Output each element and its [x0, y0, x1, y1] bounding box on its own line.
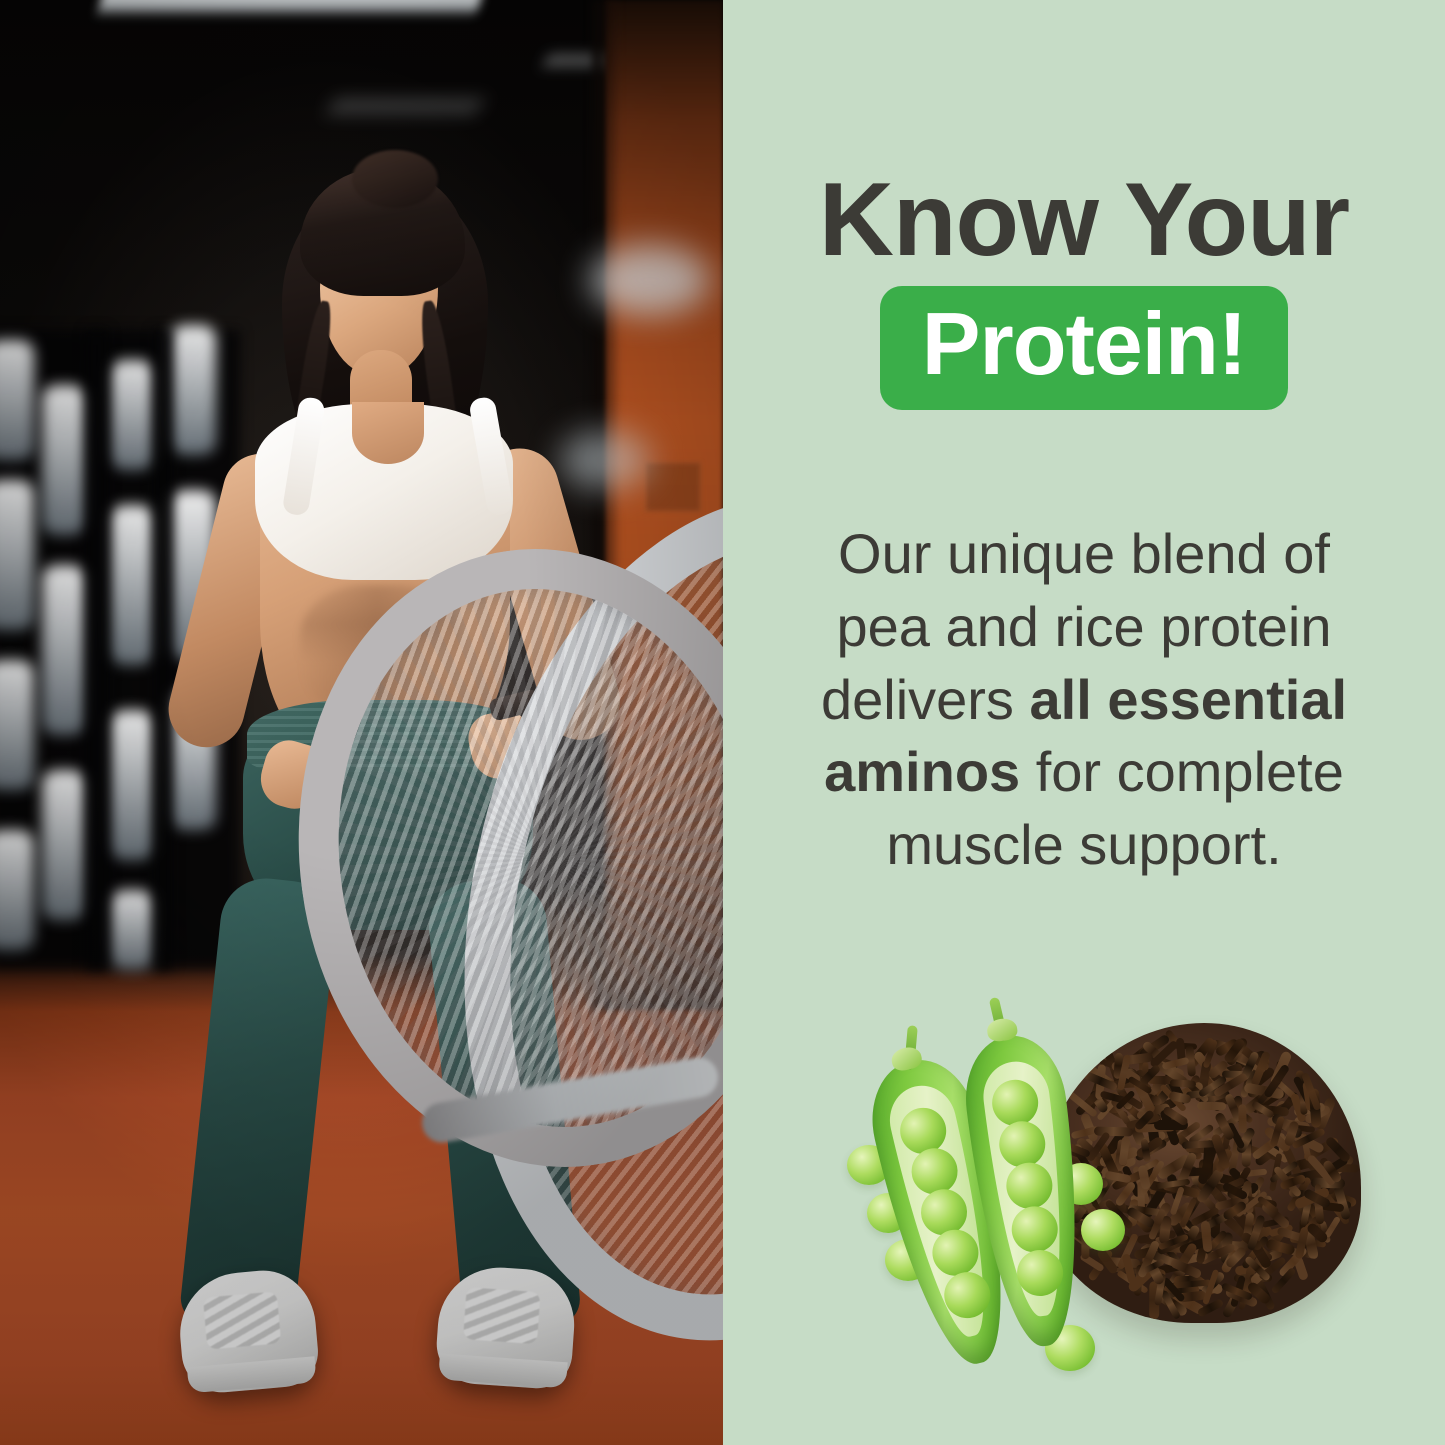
- pea-in-pod: [940, 1268, 995, 1323]
- pea-and-rice-product-art: [841, 987, 1361, 1387]
- shoe-sole: [187, 1356, 317, 1393]
- rice-grain: [1094, 1127, 1133, 1137]
- headline-badge-row: Protein!: [723, 286, 1445, 410]
- rice-grain: [1197, 1101, 1226, 1110]
- rice-grain: [1239, 1105, 1247, 1134]
- sports-bra-neckline: [352, 402, 424, 464]
- headline-badge-protein: Protein!: [880, 286, 1288, 410]
- loose-pea: [1081, 1209, 1125, 1251]
- headline-line-one: Know Your: [723, 168, 1445, 272]
- advertisement-canvas: Know Your Protein! Our unique blend of p…: [0, 0, 1445, 1445]
- pod-tip: [889, 1045, 923, 1073]
- pea-in-pod: [1004, 1160, 1055, 1211]
- body-copy: Our unique blend of pea and rice protein…: [804, 518, 1364, 882]
- shoe-laces: [203, 1291, 281, 1349]
- shoe-sole: [438, 1353, 568, 1388]
- content-panel: Know Your Protein! Our unique blend of p…: [723, 0, 1445, 1445]
- rice-grain: [1169, 1079, 1195, 1087]
- pea-in-pod: [990, 1077, 1041, 1128]
- shoe-laces: [463, 1287, 540, 1344]
- hair-bun: [352, 150, 438, 208]
- headline-block: Know Your Protein!: [723, 168, 1445, 410]
- rice-grain: [1196, 1298, 1223, 1317]
- pea-in-pod: [997, 1119, 1048, 1170]
- pod-tip: [986, 1017, 1018, 1042]
- right-sneaker: [434, 1263, 578, 1390]
- gym-photo-panel: [0, 0, 723, 1445]
- pea-in-pod: [1014, 1247, 1065, 1298]
- pea-in-pod: [1009, 1204, 1060, 1255]
